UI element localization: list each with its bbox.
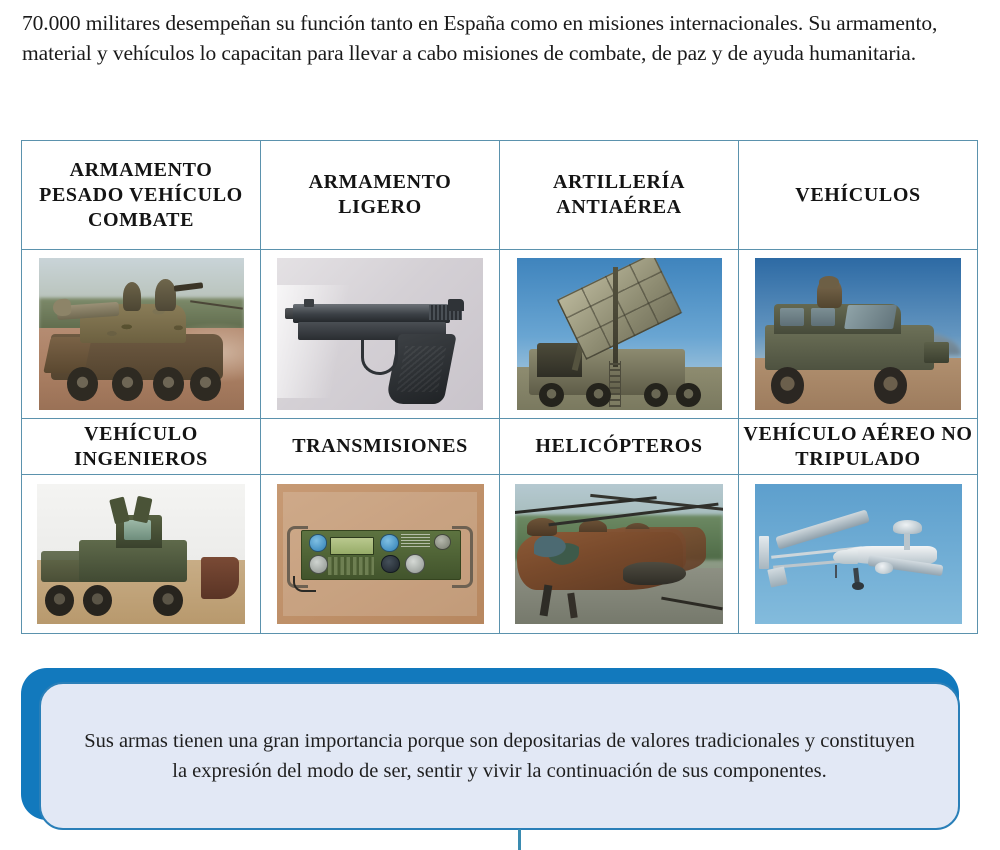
military-utility-vehicle-photo [755, 258, 961, 410]
intro-paragraph: 70.000 militares desempeñan su función t… [22, 8, 974, 68]
keypad [328, 557, 374, 575]
table-cell-header-artilleria-antiaerea: ARTILLERÍA ANTIAÉREA [500, 141, 739, 250]
antenna-mast [613, 267, 618, 367]
wheel [153, 585, 182, 616]
front-bumper [924, 342, 949, 363]
pistol-slide [293, 304, 450, 324]
loader-bucket [201, 557, 238, 599]
vertical-stabilizer [759, 536, 769, 570]
patriot-missile-launcher-photo [517, 258, 722, 410]
control-knob [380, 534, 399, 551]
cell-title: VEHÍCULOS [739, 181, 977, 210]
wheel [539, 383, 564, 407]
side-window [780, 308, 805, 326]
connector-cable [293, 576, 316, 592]
cell-title: ARTILLERÍA ANTIAÉREA [500, 168, 738, 222]
control-knob [381, 555, 400, 572]
cockpit-canopy [527, 518, 556, 536]
engineer-vehicle-photo [37, 484, 245, 624]
side-window [811, 308, 836, 326]
armored-combat-vehicle-photo [39, 258, 244, 410]
hammer [448, 299, 464, 311]
photo-wrap [739, 250, 977, 418]
antenna-mast [904, 532, 910, 550]
nose-cone [833, 550, 858, 564]
landing-gear [835, 565, 837, 578]
photo-wrap [22, 475, 260, 633]
wheel [586, 383, 611, 407]
wheel [190, 367, 221, 400]
table-cell-image-utility-vehicle [739, 250, 978, 419]
callout-connector-line [518, 829, 521, 850]
wheel [67, 367, 98, 400]
table-cell-image-field-radio [261, 475, 500, 634]
access-ladder [609, 361, 621, 407]
cab-window [124, 520, 151, 540]
wheel [676, 383, 701, 407]
nameplate-label [401, 534, 430, 547]
table-cell-image-helicopters [500, 475, 739, 634]
table-cell-image-armored-vehicle [22, 250, 261, 419]
table-cell-image-pistol [261, 250, 500, 419]
table-cell-header-vehiculo-ingenieros: VEHÍCULO INGENIEROS [22, 419, 261, 475]
cell-title: VEHÍCULO AÉREO NO TRIPULADO [739, 420, 977, 474]
windshield [844, 305, 897, 329]
cell-title: ARMAMENTO PESADO VEHÍCULO COMBATE [22, 156, 260, 235]
photo-wrap [500, 250, 738, 418]
table-cell-image-missile-launcher [500, 250, 739, 419]
satcom-dome [893, 520, 922, 534]
crew-member [123, 282, 141, 311]
sensor-turret [875, 562, 894, 573]
equipment-table: ARMAMENTO PESADO VEHÍCULO COMBATE ARMAME… [21, 140, 978, 634]
callout-zone: Sus armas tienen una gran importancia po… [21, 668, 978, 850]
wheel [83, 585, 112, 616]
field-radio-photo [277, 484, 484, 624]
front-sight [304, 299, 314, 307]
wheel [45, 585, 74, 616]
nose-section [623, 562, 685, 584]
callout-text: Sus armas tienen una gran importancia po… [41, 726, 958, 786]
callout-box: Sus armas tienen una gran importancia po… [39, 682, 960, 830]
grip-texture [396, 346, 446, 392]
control-knob [309, 534, 328, 551]
photo-wrap [500, 475, 738, 633]
photo-wrap [739, 475, 977, 633]
unmanned-aerial-vehicle-photo [755, 484, 962, 624]
table-cell-header-vehiculo-aereo-no-tripulado: VEHÍCULO AÉREO NO TRIPULADO [739, 419, 978, 475]
table-cell-header-helicopteros: HELICÓPTEROS [500, 419, 739, 475]
pistol-photo [277, 258, 483, 410]
crew-member [155, 279, 176, 311]
helmet [819, 276, 840, 288]
table-cell-header-armamento-ligero: ARMAMENTO LIGERO [261, 141, 500, 250]
cell-title: ARMAMENTO LIGERO [261, 168, 499, 222]
wheel [112, 367, 143, 400]
cannon-muzzle [52, 298, 72, 316]
table-row: VEHÍCULO INGENIEROS TRANSMISIONES HELICÓ… [22, 419, 978, 475]
cell-title: TRANSMISIONES [261, 432, 499, 461]
table-cell-header-vehiculos: VEHÍCULOS [739, 141, 978, 250]
photo-wrap [22, 250, 260, 418]
cell-title: VEHÍCULO INGENIEROS [22, 420, 260, 474]
table-row [22, 475, 978, 634]
lcd-display [330, 537, 373, 554]
table-row: ARMAMENTO PESADO VEHÍCULO COMBATE ARMAME… [22, 141, 978, 250]
table-row [22, 250, 978, 419]
table-cell-header-armamento-pesado: ARMAMENTO PESADO VEHÍCULO COMBATE [22, 141, 261, 250]
camouflage-pattern [534, 534, 580, 565]
horizontal-stabilizer [767, 566, 787, 587]
photo-wrap [261, 250, 499, 418]
table-cell-header-transmisiones: TRANSMISIONES [261, 419, 500, 475]
wheel [153, 367, 184, 400]
wheel [644, 383, 669, 407]
attack-helicopters-photo [515, 484, 723, 624]
table-cell-image-engineer-vehicle [22, 475, 261, 634]
table-cell-image-uav [739, 475, 978, 634]
cell-title: HELICÓPTEROS [500, 432, 738, 461]
photo-wrap [261, 475, 499, 633]
